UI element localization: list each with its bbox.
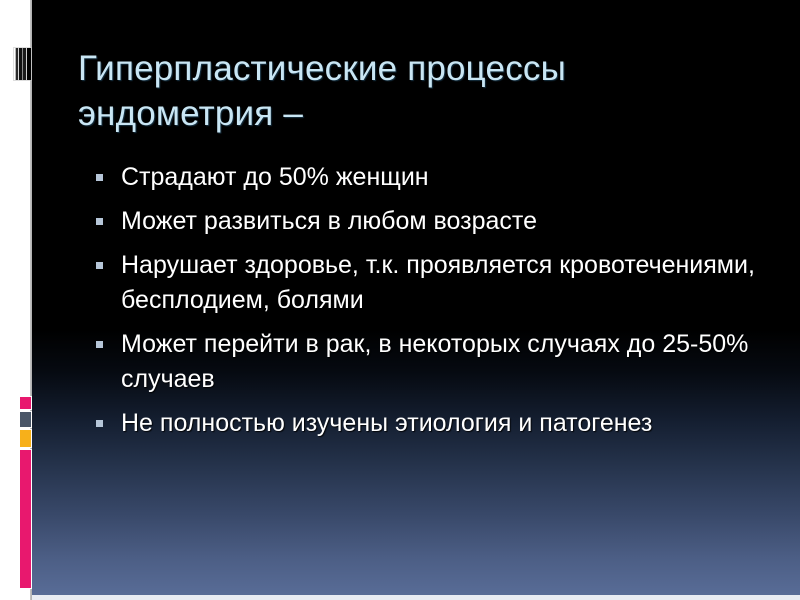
bullet-square-icon [96, 420, 103, 427]
slide-bottom-edge [32, 595, 800, 600]
bullet-list: Страдают до 50% женщин Может развиться в… [96, 160, 776, 450]
bullet-square-icon [96, 262, 103, 269]
list-item-text: Может развиться в любом возрасте [121, 204, 776, 239]
list-item: Не полностью изучены этиология и патоген… [96, 406, 776, 441]
list-item: Нарушает здоровье, т.к. проявляется кров… [96, 248, 776, 318]
list-item: Может перейти в рак, в некоторых случаях… [96, 327, 776, 397]
list-item-text: Страдают до 50% женщин [121, 160, 776, 195]
list-item-text: Может перейти в рак, в некоторых случаях… [121, 327, 776, 397]
slide-title: Гиперпластические процессы эндометрия – [78, 46, 768, 136]
list-item-text: Нарушает здоровье, т.к. проявляется кров… [121, 248, 776, 318]
striped-bar-decoration-icon [14, 48, 31, 80]
bullet-square-icon [96, 218, 103, 225]
presentation-slide: Гиперпластические процессы эндометрия – … [0, 0, 800, 600]
bullet-square-icon [96, 174, 103, 181]
bullet-square-icon [96, 341, 103, 348]
chip-slate-decoration [19, 411, 32, 428]
chip-magenta-long-decoration [19, 449, 32, 589]
chip-magenta-top-decoration [19, 396, 32, 410]
list-item: Может развиться в любом возрасте [96, 204, 776, 239]
list-item-text: Не полностью изучены этиология и патоген… [121, 406, 776, 441]
list-item: Страдают до 50% женщин [96, 160, 776, 195]
chip-amber-decoration [19, 429, 32, 448]
